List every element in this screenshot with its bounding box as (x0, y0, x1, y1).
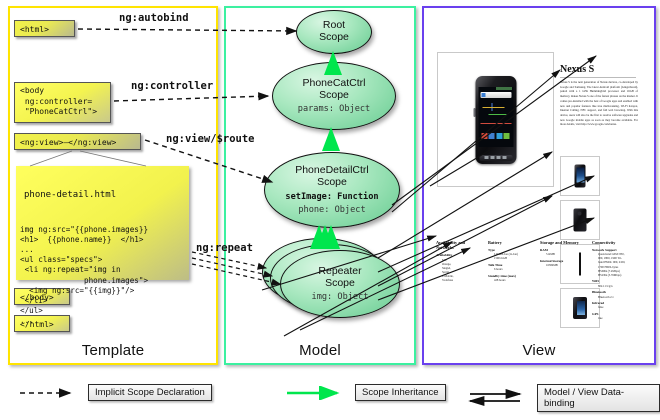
scope-phonedetailctrl-line1: PhoneDetailCtrl (295, 164, 369, 176)
scope-phonecatctrl-line1: PhoneCatCtrl (302, 77, 365, 89)
code-box-html-open: <html> (14, 20, 75, 37)
legend-item-data-binding: Model / View Data-binding (468, 384, 660, 412)
view-title-rule (560, 77, 636, 78)
spec-value: 6 hours (494, 267, 534, 271)
spec-column-availability: Availability and Networks Availability M… (436, 240, 482, 321)
spec-column-storage: Storage and Memory RAM 512MB Internal St… (540, 240, 586, 321)
thumbnail-phone-front[interactable] (560, 156, 600, 196)
legend-solid-arrow-icon (285, 386, 347, 400)
spec-heading: Storage and Memory (540, 240, 586, 245)
spec-value: HSUPA (5.76Mbps) (598, 273, 638, 277)
legend: Implicit Scope Declaration Scope Inherit… (0, 378, 660, 412)
scope-repeater-front: RepeaterScope img: Object (280, 250, 400, 318)
spec-value: 512MB (546, 252, 586, 256)
view-phone-title: Nexus S (560, 64, 594, 75)
scope-phonecatctrl-prop-params: params: Object (298, 104, 370, 114)
scope-phonedetailctrl: PhoneDetailCtrlScope setImage: Function … (264, 152, 400, 228)
legend-item-implicit-scope: Implicit Scope Declaration (18, 384, 212, 401)
view-specs-table: Availability and Networks Availability M… (436, 240, 638, 321)
phone-device-illustration (475, 76, 516, 164)
view-phone-description: Nexus S is the next generation of Nexus … (560, 80, 638, 127)
scope-phonedetailctrl-prop-setimage: setImage: Function (285, 192, 378, 202)
spec-value: Vodafone (442, 278, 482, 282)
scope-phonedetailctrl-prop-phone: phone: Object (298, 205, 365, 215)
code-box-ngview: <ng:view>—</ng:view> (14, 133, 141, 150)
scope-repeater-line1: Repeater (318, 265, 361, 277)
code-box-body-open: <body ng:controller= "PhoneCatCtrl"> (14, 82, 111, 123)
scope-phonecatctrl-line2: Scope (319, 89, 349, 101)
thumbnail-phone-back[interactable] (560, 200, 600, 240)
scope-root-line1: Root (323, 19, 345, 31)
spec-value: 1500 mAH (494, 256, 534, 260)
spec-value: false (598, 305, 638, 309)
spec-value: 16384MB (546, 263, 586, 267)
scope-repeater-prop-img: img: Object (312, 292, 369, 302)
edge-label-ng-repeat: ng:repeat (196, 242, 253, 254)
spec-column-battery: Battery Type Lithium Ion (Li-Ion) 1500 m… (488, 240, 534, 321)
spec-value: 428 hours (494, 278, 534, 282)
edge-label-ng-view-route: ng:view/$route (166, 133, 255, 145)
legend-label-implicit-scope: Implicit Scope Declaration (88, 384, 212, 401)
scope-phonecatctrl: PhoneCatCtrlScope params: Object (272, 62, 396, 130)
snippet-code: img ng:src="{{phone.images}} <h1> {{phon… (16, 224, 189, 328)
phone-hero-image-frame (437, 52, 554, 187)
spec-heading: Connectivity (592, 240, 638, 245)
snippet-filename: phone-detail.html (16, 187, 189, 203)
spec-heading: Availability and Networks (436, 240, 482, 251)
panel-view-label: View (424, 342, 654, 359)
spec-value: Bluetooth 2.1 (598, 295, 638, 299)
spec-heading: Battery (488, 240, 534, 245)
legend-double-arrow-icon (468, 389, 529, 407)
legend-label-scope-inheritance: Scope Inheritance (355, 384, 446, 401)
scope-phonedetailctrl-line2: Scope (317, 176, 347, 188)
edge-label-ng-controller: ng:controller (131, 80, 213, 92)
scope-repeater-line2: Scope (325, 277, 355, 289)
scope-root: RootScope (296, 10, 372, 54)
code-box-phone-detail-snippet: phone-detail.html img ng:src="{{phone.im… (16, 166, 189, 280)
view-rendered-page: Nexus S Nexus S is the next generation o… (432, 16, 642, 334)
panel-model-label: Model (226, 342, 414, 359)
spec-column-connectivity: Connectivity Network Support Quad-band G… (592, 240, 638, 321)
diagram-canvas: Template Model View <html> <body ng:cont… (0, 0, 660, 420)
legend-dashed-arrow-icon (18, 386, 80, 400)
spec-value: 802.11 b/g/n (598, 284, 638, 288)
edge-label-ng-autobind: ng:autobind (119, 12, 189, 24)
legend-item-scope-inheritance: Scope Inheritance (285, 384, 446, 401)
scope-root-line2: Scope (319, 31, 349, 43)
legend-label-data-binding: Model / View Data-binding (537, 384, 660, 412)
spec-value: true (598, 316, 638, 320)
